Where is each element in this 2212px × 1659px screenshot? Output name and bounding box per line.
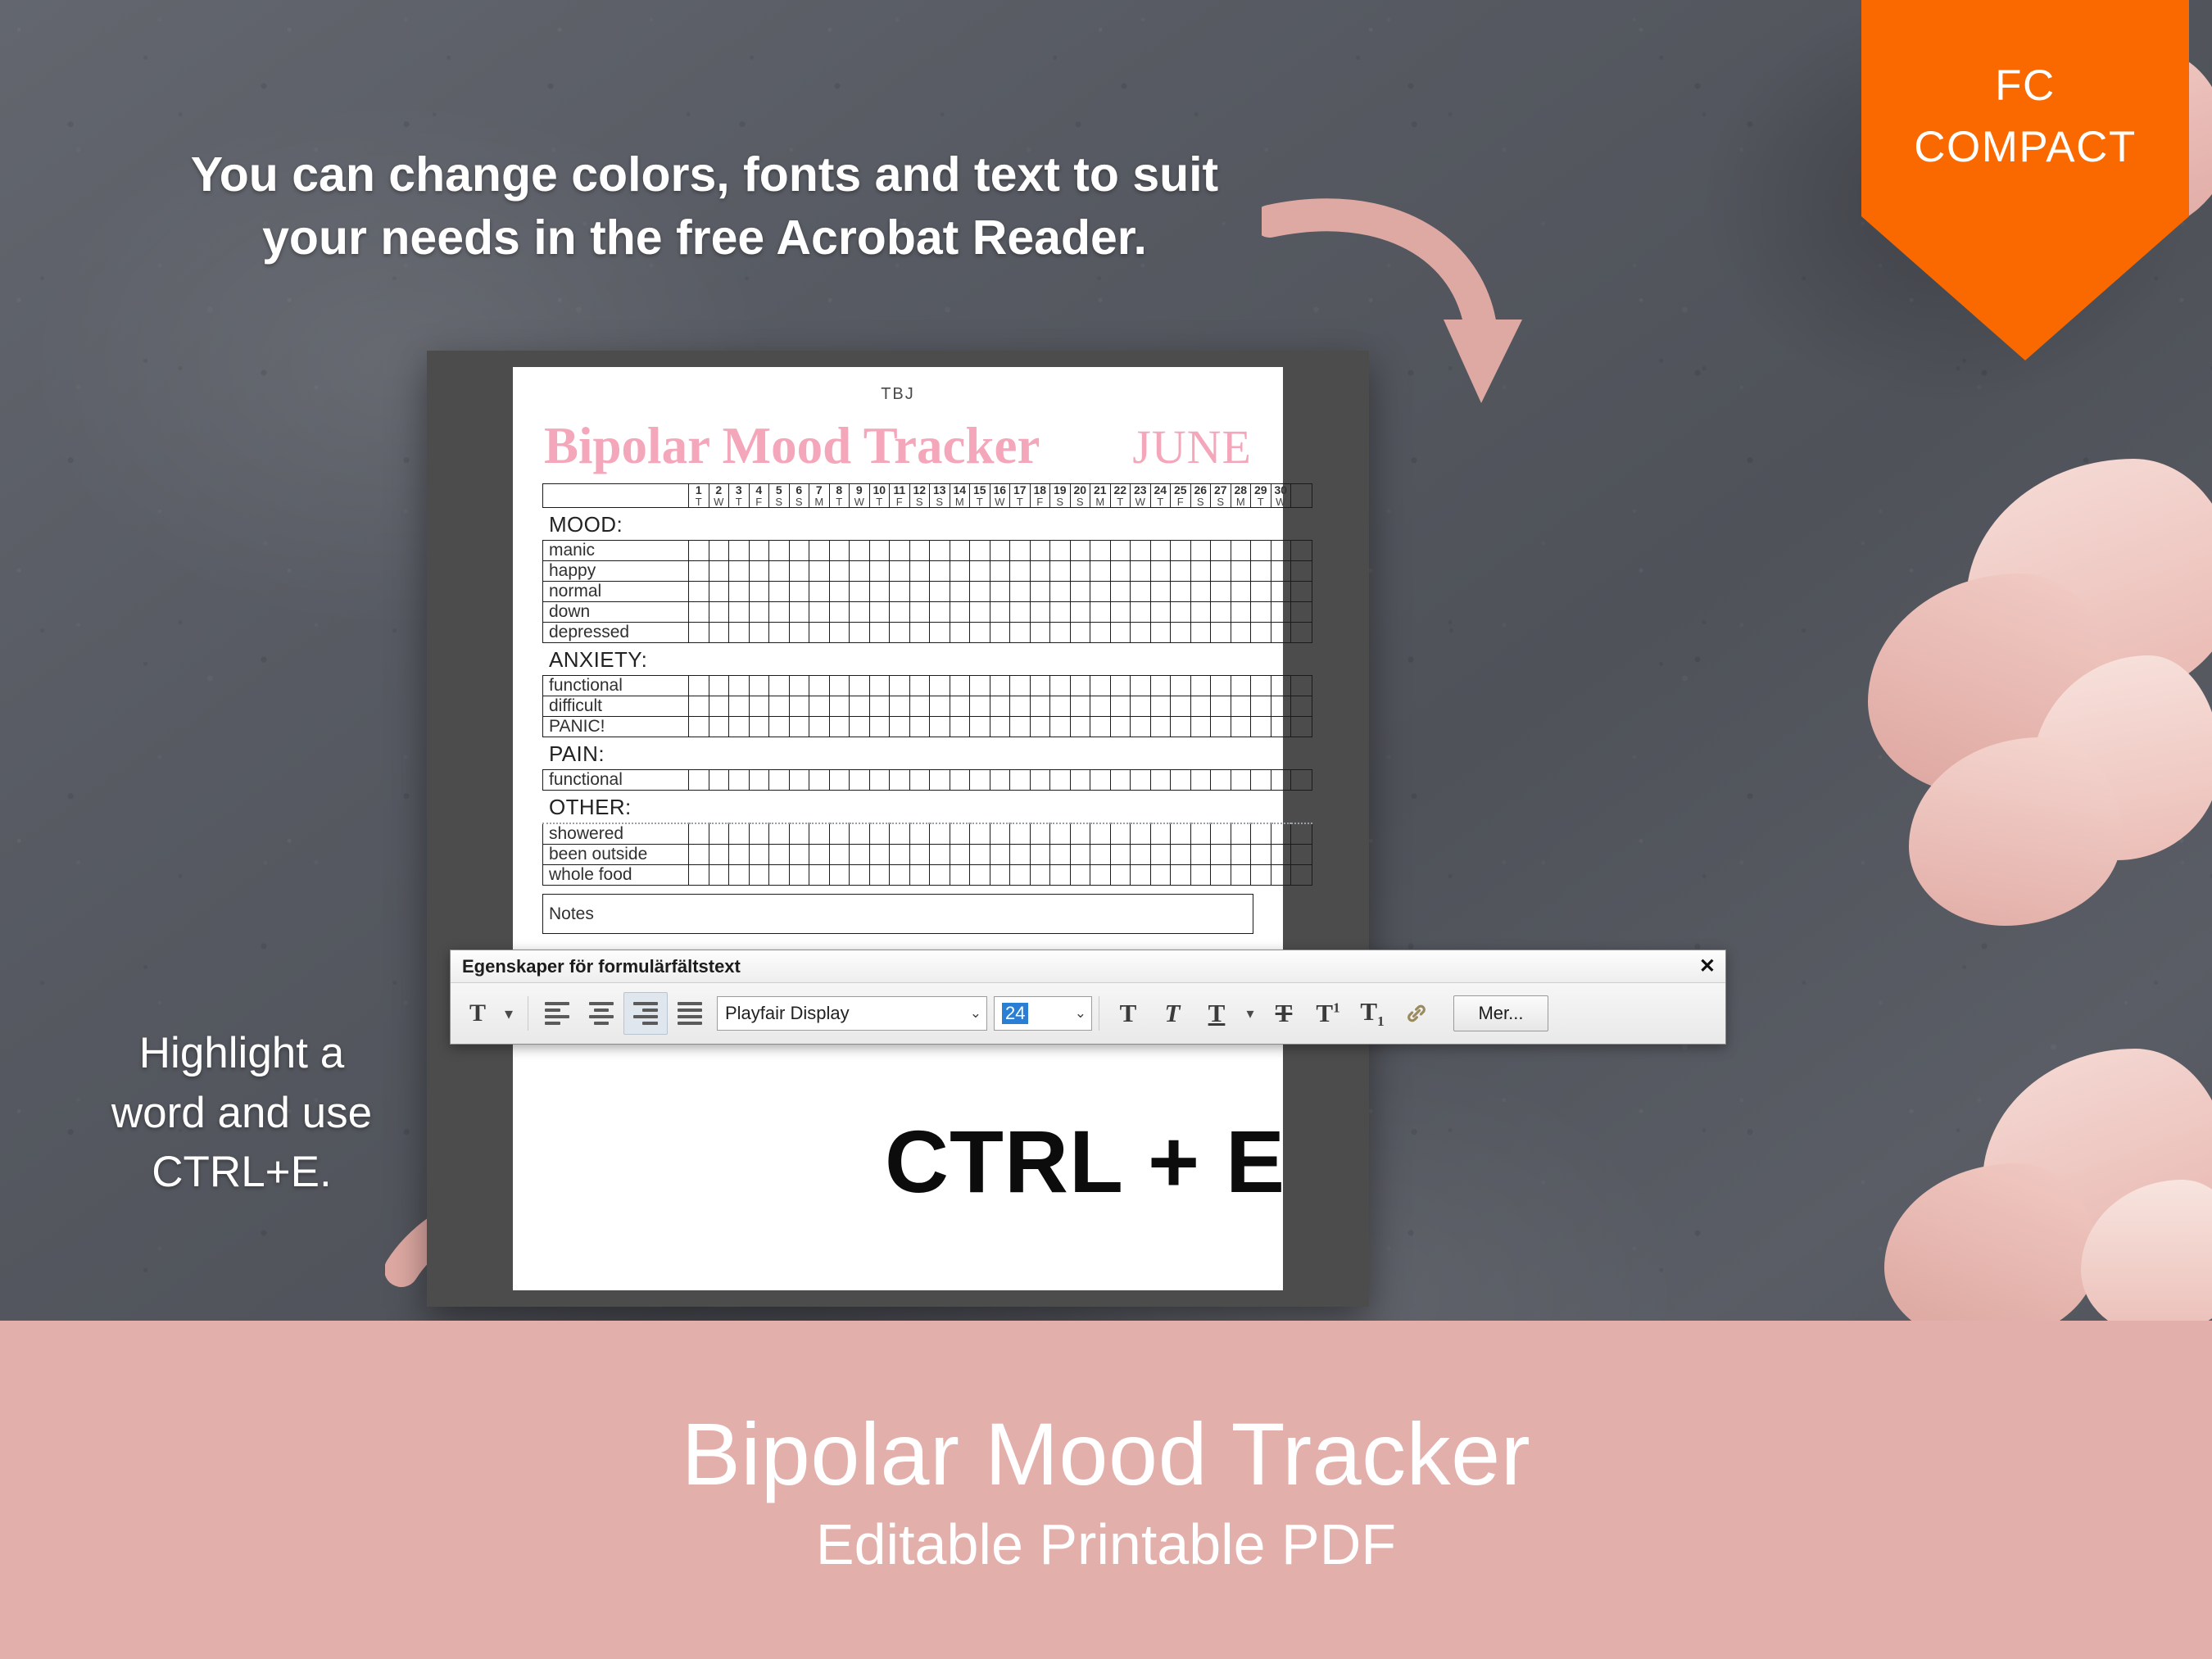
- tracker-cell[interactable]: [909, 717, 930, 737]
- tracker-cell[interactable]: [850, 602, 870, 623]
- tracker-cell[interactable]: [709, 623, 729, 643]
- align-center-button[interactable]: [579, 992, 623, 1035]
- tracker-cell[interactable]: [869, 845, 890, 865]
- tracker-cell[interactable]: [829, 602, 850, 623]
- dialog-title-bar[interactable]: Egenskaper för formulärfältstext ✕: [451, 950, 1725, 983]
- tracker-cell[interactable]: [709, 717, 729, 737]
- tracker-cell[interactable]: [1190, 845, 1211, 865]
- tracker-cell[interactable]: [829, 623, 850, 643]
- tracker-cell[interactable]: [930, 561, 950, 582]
- tracker-cell[interactable]: [990, 823, 1010, 845]
- strikethrough-button[interactable]: T: [1262, 992, 1306, 1035]
- tracker-cell[interactable]: [930, 865, 950, 886]
- tracker-cell[interactable]: [890, 845, 910, 865]
- tracker-cell[interactable]: [769, 845, 790, 865]
- tracker-cell[interactable]: [1231, 865, 1251, 886]
- tracker-cell[interactable]: [950, 582, 970, 602]
- tracker-cell[interactable]: [729, 865, 750, 886]
- tracker-cell[interactable]: [1231, 541, 1251, 561]
- tracker-cell[interactable]: [970, 582, 990, 602]
- tracker-cell[interactable]: [1251, 865, 1271, 886]
- tracker-cell[interactable]: [729, 602, 750, 623]
- tracker-cell[interactable]: [1030, 623, 1050, 643]
- tracker-cell[interactable]: [869, 717, 890, 737]
- tracker-cell[interactable]: [1211, 676, 1231, 696]
- tracker-cell[interactable]: [909, 676, 930, 696]
- tracker-cell[interactable]: [789, 582, 809, 602]
- tracker-cell[interactable]: [930, 623, 950, 643]
- tracker-cell[interactable]: [990, 541, 1010, 561]
- tracker-cell[interactable]: [1030, 696, 1050, 717]
- tracker-cell[interactable]: [1050, 623, 1071, 643]
- tracker-cell[interactable]: [890, 696, 910, 717]
- tracker-cell[interactable]: [1231, 561, 1251, 582]
- tracker-cell[interactable]: [970, 561, 990, 582]
- tracker-cell[interactable]: [1110, 845, 1131, 865]
- tracker-cell[interactable]: [990, 623, 1010, 643]
- tracker-cell[interactable]: [789, 823, 809, 845]
- tracker-cell[interactable]: [950, 561, 970, 582]
- tracker-cell[interactable]: [729, 541, 750, 561]
- tracker-cell[interactable]: [990, 561, 1010, 582]
- tracker-cell[interactable]: [1271, 561, 1291, 582]
- tracker-cell[interactable]: [1010, 770, 1031, 791]
- tracker-cell[interactable]: [749, 696, 769, 717]
- tracker-cell[interactable]: [1150, 623, 1171, 643]
- tracker-cell[interactable]: [1171, 602, 1191, 623]
- tracker-cell[interactable]: [1050, 541, 1071, 561]
- tracker-cell[interactable]: [1150, 602, 1171, 623]
- tracker-cell[interactable]: [809, 541, 830, 561]
- tracker-cell[interactable]: [1010, 865, 1031, 886]
- font-size-select[interactable]: 24 ⌄: [994, 996, 1092, 1031]
- tracker-cell[interactable]: [1271, 676, 1291, 696]
- tracker-cell[interactable]: [1131, 823, 1151, 845]
- tracker-cell[interactable]: [850, 717, 870, 737]
- tracker-cell[interactable]: [1070, 696, 1090, 717]
- tracker-cell[interactable]: [1150, 845, 1171, 865]
- tracker-cell[interactable]: [1010, 602, 1031, 623]
- tracker-cell[interactable]: [1131, 770, 1151, 791]
- tracker-cell[interactable]: [1231, 696, 1251, 717]
- tracker-cell[interactable]: [1211, 582, 1231, 602]
- tracker-cell[interactable]: [1131, 541, 1151, 561]
- tracker-cell[interactable]: [1010, 676, 1031, 696]
- tracker-cell[interactable]: [789, 845, 809, 865]
- tracker-cell[interactable]: [829, 582, 850, 602]
- tracker-cell[interactable]: [829, 717, 850, 737]
- tracker-cell[interactable]: [1131, 582, 1151, 602]
- tracker-cell[interactable]: [689, 602, 709, 623]
- tracker-cell[interactable]: [1231, 623, 1251, 643]
- tracker-cell[interactable]: [1110, 561, 1131, 582]
- tracker-cell[interactable]: [729, 696, 750, 717]
- tracker-cell[interactable]: [869, 602, 890, 623]
- tracker-cell[interactable]: [1171, 717, 1191, 737]
- tracker-cell[interactable]: [869, 561, 890, 582]
- tracker-cell[interactable]: [1211, 770, 1231, 791]
- tracker-cell[interactable]: [1171, 582, 1191, 602]
- font-name-select[interactable]: Playfair Display ⌄: [717, 996, 987, 1031]
- tracker-cell[interactable]: [1190, 717, 1211, 737]
- link-button[interactable]: [1394, 992, 1439, 1035]
- tracker-cell[interactable]: [789, 865, 809, 886]
- tracker-cell[interactable]: [769, 865, 790, 886]
- tracker-cell[interactable]: [1251, 676, 1271, 696]
- tracker-cell[interactable]: [1131, 561, 1151, 582]
- tracker-cell[interactable]: [729, 717, 750, 737]
- tracker-cell[interactable]: [729, 582, 750, 602]
- tracker-cell[interactable]: [1110, 696, 1131, 717]
- tracker-cell[interactable]: [1171, 865, 1191, 886]
- tracker-cell[interactable]: [1271, 696, 1291, 717]
- tracker-cell[interactable]: [709, 541, 729, 561]
- tracker-cell[interactable]: [1231, 845, 1251, 865]
- tracker-cell[interactable]: [1030, 676, 1050, 696]
- tracker-cell[interactable]: [1211, 602, 1231, 623]
- tracker-cell[interactable]: [990, 717, 1010, 737]
- tracker-cell[interactable]: [1150, 823, 1171, 845]
- tracker-cell[interactable]: [1110, 602, 1131, 623]
- tracker-cell[interactable]: [890, 717, 910, 737]
- tracker-cell[interactable]: [1010, 823, 1031, 845]
- tracker-cell[interactable]: [809, 823, 830, 845]
- tracker-cell[interactable]: [950, 602, 970, 623]
- tracker-cell[interactable]: [829, 823, 850, 845]
- tracker-cell[interactable]: [729, 676, 750, 696]
- tracker-cell[interactable]: [1271, 865, 1291, 886]
- tracker-cell[interactable]: [1190, 541, 1211, 561]
- tracker-cell[interactable]: [1150, 770, 1171, 791]
- tracker-cell[interactable]: [930, 541, 950, 561]
- tracker-cell[interactable]: [869, 770, 890, 791]
- tracker-cell[interactable]: [789, 696, 809, 717]
- tracker-cell[interactable]: [930, 717, 950, 737]
- tracker-cell[interactable]: [1190, 561, 1211, 582]
- tracker-cell[interactable]: [789, 717, 809, 737]
- tracker-cell[interactable]: [1150, 582, 1171, 602]
- tracker-cell[interactable]: [1010, 561, 1031, 582]
- tracker-cell[interactable]: [749, 717, 769, 737]
- tracker-cell[interactable]: [1211, 541, 1231, 561]
- tracker-cell[interactable]: [850, 541, 870, 561]
- tracker-cell[interactable]: [1030, 541, 1050, 561]
- tracker-cell[interactable]: [1070, 602, 1090, 623]
- tracker-cell[interactable]: [1251, 623, 1271, 643]
- tracker-cell[interactable]: [1110, 770, 1131, 791]
- tracker-cell[interactable]: [1010, 582, 1031, 602]
- tracker-cell[interactable]: [1211, 845, 1231, 865]
- tracker-cell[interactable]: [869, 623, 890, 643]
- tracker-cell[interactable]: [1050, 845, 1071, 865]
- tracker-cell[interactable]: [1070, 865, 1090, 886]
- tracker-cell[interactable]: [950, 623, 970, 643]
- tracker-cell[interactable]: [789, 770, 809, 791]
- tracker-cell[interactable]: [970, 676, 990, 696]
- tracker-cell[interactable]: [1271, 823, 1291, 845]
- tracker-cell[interactable]: [909, 845, 930, 865]
- tracker-cell[interactable]: [1070, 845, 1090, 865]
- tracker-cell[interactable]: [850, 623, 870, 643]
- tracker-cell[interactable]: [1251, 561, 1271, 582]
- tracker-cell[interactable]: [950, 541, 970, 561]
- tracker-cell[interactable]: [749, 561, 769, 582]
- tracker-cell[interactable]: [1211, 823, 1231, 845]
- tracker-cell[interactable]: [970, 541, 990, 561]
- tracker-cell[interactable]: [1251, 541, 1271, 561]
- tracker-cell[interactable]: [749, 582, 769, 602]
- tracker-cell[interactable]: [930, 696, 950, 717]
- tracker-cell[interactable]: [990, 845, 1010, 865]
- tracker-cell[interactable]: [1070, 676, 1090, 696]
- tracker-cell[interactable]: [1211, 865, 1231, 886]
- tracker-cell[interactable]: [1271, 845, 1291, 865]
- tracker-cell[interactable]: [769, 770, 790, 791]
- tracker-cell[interactable]: [1090, 623, 1111, 643]
- tracker-cell[interactable]: [1271, 602, 1291, 623]
- tracker-cell[interactable]: [909, 623, 930, 643]
- tracker-cell[interactable]: [829, 770, 850, 791]
- underline-dropdown-icon[interactable]: ▾: [1239, 992, 1262, 1035]
- superscript-button[interactable]: T1: [1306, 992, 1350, 1035]
- tracker-cell[interactable]: [1050, 561, 1071, 582]
- tracker-cell[interactable]: [930, 823, 950, 845]
- tracker-cell[interactable]: [1171, 770, 1191, 791]
- tracker-cell[interactable]: [709, 561, 729, 582]
- tracker-cell[interactable]: [1110, 582, 1131, 602]
- tracker-cell[interactable]: [990, 602, 1010, 623]
- tracker-cell[interactable]: [930, 845, 950, 865]
- tracker-cell[interactable]: [1251, 717, 1271, 737]
- tracker-cell[interactable]: [970, 845, 990, 865]
- tracker-cell[interactable]: [1251, 582, 1271, 602]
- text-field-properties-dialog[interactable]: Egenskaper för formulärfältstext ✕ T ▾ P…: [450, 950, 1726, 1045]
- tracker-cell[interactable]: [890, 823, 910, 845]
- tracker-cell[interactable]: [769, 717, 790, 737]
- tracker-cell[interactable]: [1050, 582, 1071, 602]
- tracker-cell[interactable]: [1110, 823, 1131, 845]
- tracker-cell[interactable]: [1090, 602, 1111, 623]
- tracker-cell[interactable]: [809, 623, 830, 643]
- tracker-cell[interactable]: [950, 823, 970, 845]
- tracker-cell[interactable]: [1231, 717, 1251, 737]
- tracker-cell[interactable]: [729, 561, 750, 582]
- tracker-cell[interactable]: [1251, 602, 1271, 623]
- tracker-cell[interactable]: [769, 582, 790, 602]
- tracker-cell[interactable]: [1131, 845, 1151, 865]
- tracker-cell[interactable]: [1090, 561, 1111, 582]
- tracker-cell[interactable]: [809, 717, 830, 737]
- tracker-cell[interactable]: [1251, 696, 1271, 717]
- tracker-cell[interactable]: [709, 676, 729, 696]
- tracker-cell[interactable]: [689, 770, 709, 791]
- tracker-cell[interactable]: [749, 623, 769, 643]
- tracker-cell[interactable]: [1251, 770, 1271, 791]
- tracker-cell[interactable]: [1211, 561, 1231, 582]
- tracker-cell[interactable]: [869, 582, 890, 602]
- tracker-cell[interactable]: [689, 865, 709, 886]
- tracker-cell[interactable]: [749, 541, 769, 561]
- tracker-cell[interactable]: [1131, 865, 1151, 886]
- tracker-cell[interactable]: [1150, 541, 1171, 561]
- tracker-cell[interactable]: [930, 770, 950, 791]
- tracker-cell[interactable]: [769, 602, 790, 623]
- tracker-cell[interactable]: [909, 823, 930, 845]
- tracker-cell[interactable]: [1110, 717, 1131, 737]
- tracker-cell[interactable]: [970, 717, 990, 737]
- tracker-cell[interactable]: [909, 541, 930, 561]
- tracker-cell[interactable]: [769, 623, 790, 643]
- tracker-cell[interactable]: [909, 696, 930, 717]
- tracker-cell[interactable]: [1231, 770, 1251, 791]
- tracker-cell[interactable]: [1150, 676, 1171, 696]
- tracker-cell[interactable]: [709, 865, 729, 886]
- tracker-cell[interactable]: [809, 845, 830, 865]
- tracker-cell[interactable]: [749, 865, 769, 886]
- tracker-cell[interactable]: [1030, 845, 1050, 865]
- tracker-cell[interactable]: [809, 676, 830, 696]
- tracker-cell[interactable]: [1030, 823, 1050, 845]
- tracker-cell[interactable]: [930, 602, 950, 623]
- tracker-cell[interactable]: [1171, 541, 1191, 561]
- tracker-cell[interactable]: [1171, 696, 1191, 717]
- tracker-cell[interactable]: [909, 602, 930, 623]
- tracker-cell[interactable]: [1050, 676, 1071, 696]
- tracker-cell[interactable]: [930, 582, 950, 602]
- tracker-cell[interactable]: [990, 696, 1010, 717]
- tracker-cell[interactable]: [689, 717, 709, 737]
- tracker-cell[interactable]: [789, 602, 809, 623]
- subscript-button[interactable]: T1: [1350, 992, 1394, 1035]
- tracker-cell[interactable]: [1090, 696, 1111, 717]
- tracker-cell[interactable]: [789, 676, 809, 696]
- tracker-cell[interactable]: [1090, 845, 1111, 865]
- tracker-cell[interactable]: [1271, 770, 1291, 791]
- tracker-cell[interactable]: [1110, 676, 1131, 696]
- tracker-cell[interactable]: [1131, 717, 1151, 737]
- tracker-cell[interactable]: [1231, 823, 1251, 845]
- tracker-cell[interactable]: [1030, 717, 1050, 737]
- tracker-cell[interactable]: [1090, 823, 1111, 845]
- tracker-cell[interactable]: [950, 696, 970, 717]
- tracker-cell[interactable]: [689, 823, 709, 845]
- tracker-cell[interactable]: [850, 561, 870, 582]
- tracker-cell[interactable]: [1251, 845, 1271, 865]
- tracker-cell[interactable]: [729, 823, 750, 845]
- tracker-cell[interactable]: [909, 770, 930, 791]
- tracker-cell[interactable]: [1070, 541, 1090, 561]
- tracker-cell[interactable]: [1010, 696, 1031, 717]
- tracker-cell[interactable]: [709, 582, 729, 602]
- tracker-cell[interactable]: [909, 865, 930, 886]
- tracker-cell[interactable]: [1150, 696, 1171, 717]
- tracker-cell[interactable]: [749, 770, 769, 791]
- tracker-cell[interactable]: [749, 823, 769, 845]
- tracker-cell[interactable]: [689, 561, 709, 582]
- tracker-cell[interactable]: [789, 623, 809, 643]
- tracker-cell[interactable]: [1190, 676, 1211, 696]
- tracker-cell[interactable]: [1070, 717, 1090, 737]
- tracker-cell[interactable]: [970, 602, 990, 623]
- tracker-cell[interactable]: [1251, 823, 1271, 845]
- tracker-cell[interactable]: [1010, 717, 1031, 737]
- tracker-cell[interactable]: [1090, 676, 1111, 696]
- tracker-cell[interactable]: [1070, 823, 1090, 845]
- tracker-cell[interactable]: [769, 561, 790, 582]
- tracker-cell[interactable]: [1131, 623, 1151, 643]
- tracker-cell[interactable]: [869, 823, 890, 845]
- tracker-cell[interactable]: [850, 865, 870, 886]
- tracker-cell[interactable]: [1050, 717, 1071, 737]
- tracker-cell[interactable]: [1190, 696, 1211, 717]
- italic-button[interactable]: T: [1150, 992, 1194, 1035]
- tracker-cell[interactable]: [1131, 696, 1151, 717]
- tracker-cell[interactable]: [1231, 676, 1251, 696]
- tracker-cell[interactable]: [1050, 696, 1071, 717]
- tracker-cell[interactable]: [1070, 770, 1090, 791]
- tracker-cell[interactable]: [1131, 602, 1151, 623]
- tracker-cell[interactable]: [709, 823, 729, 845]
- tracker-cell[interactable]: [689, 845, 709, 865]
- tracker-cell[interactable]: [1050, 865, 1071, 886]
- tracker-cell[interactable]: [869, 865, 890, 886]
- tracker-cell[interactable]: [749, 602, 769, 623]
- tracker-cell[interactable]: [1211, 623, 1231, 643]
- tracker-cell[interactable]: [950, 676, 970, 696]
- tracker-cell[interactable]: [1050, 602, 1071, 623]
- tracker-cell[interactable]: [1190, 623, 1211, 643]
- tracker-cell[interactable]: [1211, 696, 1231, 717]
- tracker-cell[interactable]: [769, 541, 790, 561]
- tracker-cell[interactable]: [1271, 623, 1291, 643]
- tracker-cell[interactable]: [829, 865, 850, 886]
- tracker-cell[interactable]: [1171, 823, 1191, 845]
- tracker-cell[interactable]: [1190, 865, 1211, 886]
- tracker-cell[interactable]: [1131, 676, 1151, 696]
- tracker-cell[interactable]: [1070, 623, 1090, 643]
- tracker-cell[interactable]: [749, 845, 769, 865]
- tracker-cell[interactable]: [1190, 770, 1211, 791]
- tracker-cell[interactable]: [1150, 561, 1171, 582]
- tracker-cell[interactable]: [689, 541, 709, 561]
- tracker-cell[interactable]: [709, 602, 729, 623]
- tracker-cell[interactable]: [950, 865, 970, 886]
- tracker-cell[interactable]: [850, 770, 870, 791]
- tracker-cell[interactable]: [729, 770, 750, 791]
- tracker-cell[interactable]: [689, 696, 709, 717]
- tracker-cell[interactable]: [809, 582, 830, 602]
- tracker-cell[interactable]: [829, 676, 850, 696]
- tracker-cell[interactable]: [769, 696, 790, 717]
- tracker-cell[interactable]: [990, 865, 1010, 886]
- tracker-cell[interactable]: [850, 823, 870, 845]
- tracker-cell[interactable]: [689, 582, 709, 602]
- notes-row[interactable]: Notes: [543, 895, 1253, 934]
- tracker-cell[interactable]: [1030, 561, 1050, 582]
- tracker-cell[interactable]: [850, 582, 870, 602]
- tracker-cell[interactable]: [1090, 770, 1111, 791]
- tracker-cell[interactable]: [1271, 582, 1291, 602]
- align-justify-button[interactable]: [668, 992, 712, 1035]
- tracker-cell[interactable]: [970, 823, 990, 845]
- tracker-cell[interactable]: [709, 845, 729, 865]
- tracker-cell[interactable]: [1150, 865, 1171, 886]
- tracker-cell[interactable]: [869, 676, 890, 696]
- tracker-cell[interactable]: [1190, 602, 1211, 623]
- tracker-cell[interactable]: [1110, 865, 1131, 886]
- tracker-cell[interactable]: [890, 582, 910, 602]
- bold-button[interactable]: T: [1106, 992, 1150, 1035]
